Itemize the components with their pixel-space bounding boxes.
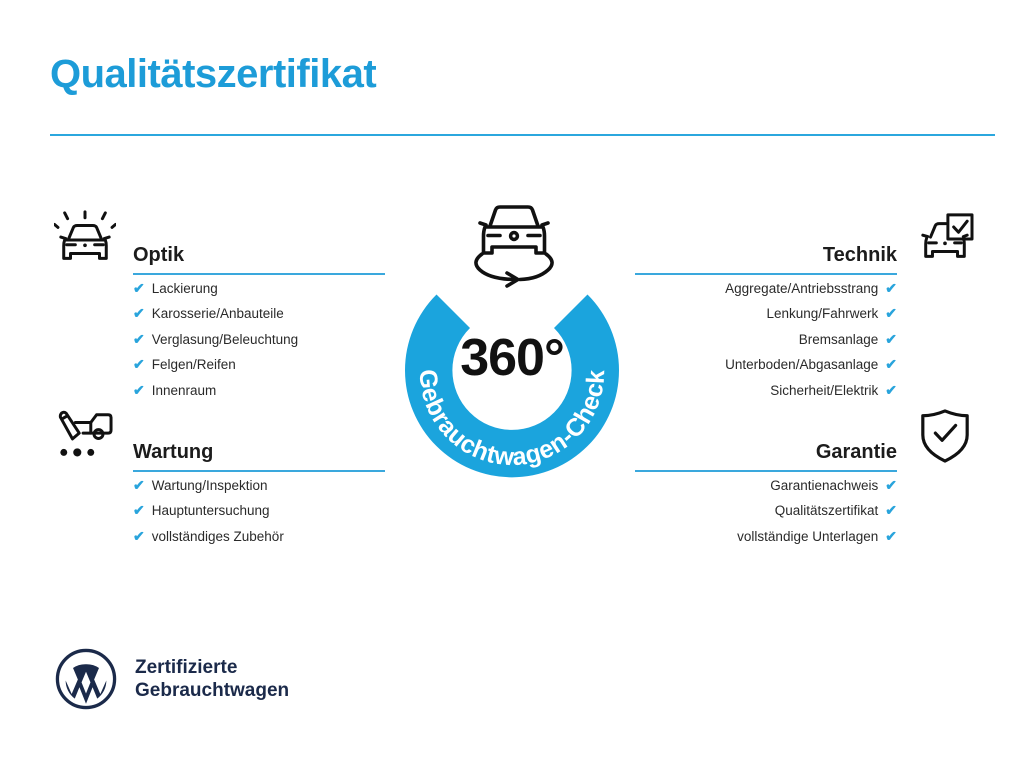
list-item-label: Karosserie/Anbauteile: [152, 307, 284, 321]
list-item: Unterboden/Abgasanlage ✔: [635, 352, 897, 378]
check-icon: ✔: [133, 478, 145, 492]
check-icon: ✔: [885, 281, 897, 295]
check-icon: ✔: [885, 503, 897, 517]
car-shine-icon: [45, 203, 125, 275]
section-wartung-header: Wartung: [45, 400, 385, 472]
check-icon: ✔: [133, 383, 145, 397]
list-item: ✔ Wartung/Inspektion: [133, 472, 385, 498]
list-item: ✔ Karosserie/Anbauteile: [133, 301, 385, 327]
section-wartung-title: Wartung: [133, 441, 385, 470]
page-title: Qualitätszertifikat: [50, 52, 376, 96]
list-item-label: Innenraum: [152, 384, 217, 398]
check-icon: ✔: [885, 332, 897, 346]
list-item-label: Hauptuntersuchung: [152, 504, 270, 518]
list-item: Lenkung/Fahrwerk ✔: [635, 301, 897, 327]
section-wartung-underline: [133, 470, 385, 472]
list-item: ✔ vollständiges Zubehör: [133, 523, 385, 549]
list-item: Bremsanlage ✔: [635, 326, 897, 352]
list-item-label: Sicherheit/Elektrik: [770, 384, 878, 398]
list-item: ✔ Hauptuntersuchung: [133, 498, 385, 524]
list-item: ✔ Verglasung/Beleuchtung: [133, 326, 385, 352]
check-icon: ✔: [885, 478, 897, 492]
check-icon: ✔: [885, 383, 897, 397]
list-item-label: Unterboden/Abgasanlage: [725, 358, 878, 372]
section-technik-header: Technik: [635, 203, 985, 275]
badge-center-value: 360°: [378, 332, 646, 384]
list-item: Qualitätszertifikat ✔: [635, 498, 897, 524]
check-icon: ✔: [133, 529, 145, 543]
check-icon: ✔: [885, 306, 897, 320]
list-item-label: Lenkung/Fahrwerk: [766, 307, 878, 321]
list-item-label: Verglasung/Beleuchtung: [152, 333, 298, 347]
section-wartung-title-wrap: Wartung: [133, 441, 385, 472]
section-optik-list: ✔ Lackierung ✔ Karosserie/Anbauteile ✔ V…: [133, 275, 385, 403]
car-checkbox-icon: [905, 203, 985, 275]
check-icon: ✔: [885, 529, 897, 543]
list-item: ✔ Innenraum: [133, 377, 385, 403]
badge-360-gebrauchtwagen-check: Gebrauchtwagen-Check 360°: [378, 196, 646, 486]
list-item-label: Aggregate/Antriebsstrang: [725, 282, 878, 296]
list-item-label: Lackierung: [152, 282, 218, 296]
certificate-page: Qualitätszertifikat Optik ✔: [0, 0, 1024, 768]
service-pen-car-icon: [45, 400, 125, 472]
section-optik-underline: [133, 273, 385, 275]
list-item-label: Wartung/Inspektion: [152, 479, 268, 493]
section-garantie-title: Garantie: [635, 441, 897, 470]
footer-line-2: Gebrauchtwagen: [135, 679, 289, 702]
check-icon: ✔: [885, 357, 897, 371]
vw-certified-lockup: Zertifizierte Gebrauchtwagen: [55, 648, 289, 710]
list-item: Sicherheit/Elektrik ✔: [635, 377, 897, 403]
check-icon: ✔: [133, 332, 145, 346]
list-item-label: Felgen/Reifen: [152, 358, 236, 372]
section-wartung: Wartung ✔ Wartung/Inspektion ✔ Hauptunte…: [45, 400, 385, 549]
check-icon: ✔: [133, 503, 145, 517]
list-item: Garantienachweis ✔: [635, 472, 897, 498]
section-technik-list: Aggregate/Antriebsstrang ✔ Lenkung/Fahrw…: [635, 275, 897, 403]
section-garantie-list: Garantienachweis ✔ Qualitätszertifikat ✔…: [635, 472, 897, 549]
section-garantie-underline: [635, 470, 897, 472]
list-item: vollständige Unterlagen ✔: [635, 523, 897, 549]
section-optik-title: Optik: [133, 244, 385, 273]
check-icon: ✔: [133, 281, 145, 295]
list-item-label: Bremsanlage: [799, 333, 879, 347]
section-garantie-title-wrap: Garantie: [635, 441, 897, 472]
section-garantie: Garantie Garantienachweis ✔ Qualitätszer…: [635, 400, 985, 549]
list-item-label: vollständiges Zubehör: [152, 530, 284, 544]
list-item-label: Garantienachweis: [770, 479, 878, 493]
section-wartung-list: ✔ Wartung/Inspektion ✔ Hauptuntersuchung…: [133, 472, 385, 549]
list-item-label: vollständige Unterlagen: [737, 530, 878, 544]
vw-certified-text: Zertifizierte Gebrauchtwagen: [135, 656, 289, 702]
check-icon: ✔: [133, 357, 145, 371]
header-divider: [50, 134, 995, 136]
section-technik-underline: [635, 273, 897, 275]
list-item: Aggregate/Antriebsstrang ✔: [635, 275, 897, 301]
car-360-rotation-icon: [462, 196, 566, 296]
section-technik: Technik Aggregate/Antriebsstrang ✔ Lenku…: [635, 203, 985, 403]
section-technik-title-wrap: Technik: [635, 244, 897, 275]
footer-line-1: Zertifizierte: [135, 656, 289, 679]
shield-check-icon: [905, 400, 985, 472]
section-optik-title-wrap: Optik: [133, 244, 385, 275]
section-garantie-header: Garantie: [635, 400, 985, 472]
section-optik: Optik ✔ Lackierung ✔ Karosserie/Anbautei…: [45, 203, 385, 403]
section-optik-header: Optik: [45, 203, 385, 275]
section-technik-title: Technik: [635, 244, 897, 273]
volkswagen-logo: [55, 648, 117, 710]
check-icon: ✔: [133, 306, 145, 320]
list-item-label: Qualitätszertifikat: [775, 504, 879, 518]
list-item: ✔ Felgen/Reifen: [133, 352, 385, 378]
list-item: ✔ Lackierung: [133, 275, 385, 301]
